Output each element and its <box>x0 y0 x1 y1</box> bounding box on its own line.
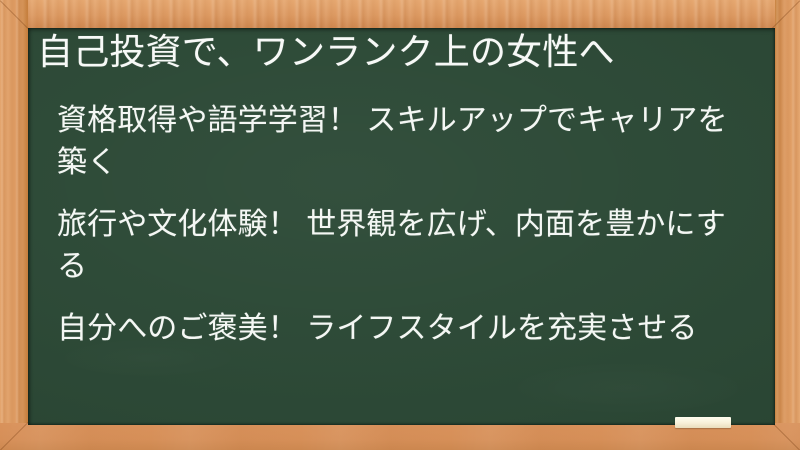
blackboard: 自己投資で、ワンランク上の女性へ 資格取得や語学学習！ スキルアップでキャリアを… <box>28 28 775 425</box>
frame-rail-top <box>0 0 800 28</box>
list-item: 資格取得や語学学習！ スキルアップでキャリアを築く <box>57 100 733 184</box>
list-item: 自分へのご褒美！ ライフスタイルを充実させる <box>57 308 733 350</box>
slide-title: 自己投資で、ワンランク上の女性へ <box>37 30 767 74</box>
frame-rail-left <box>0 0 28 450</box>
bullet-list: 資格取得や語学学習！ スキルアップでキャリアを築く 旅行や文化体験！ 世界観を広… <box>57 100 733 350</box>
blackboard-slide: 自己投資で、ワンランク上の女性へ 資格取得や語学学習！ スキルアップでキャリアを… <box>0 0 800 450</box>
frame-rail-right <box>775 0 800 450</box>
chalk-stick-icon <box>675 417 731 428</box>
list-item: 旅行や文化体験！ 世界観を広げ、内面を豊かにする <box>57 204 733 288</box>
